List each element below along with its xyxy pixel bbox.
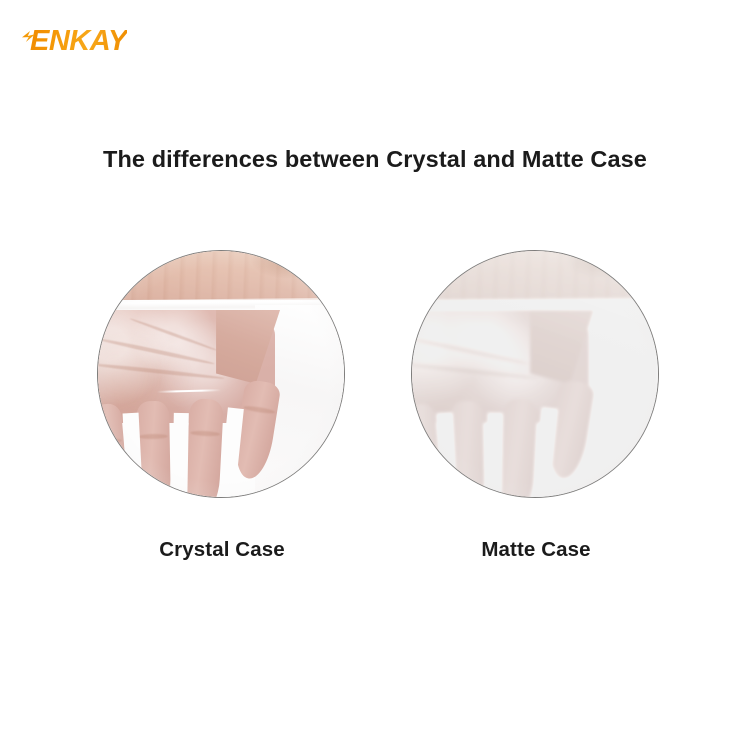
crystal-case-photo — [97, 250, 345, 498]
wrist-shadow — [250, 250, 322, 279]
finger-gap — [172, 413, 188, 498]
finger — [184, 398, 224, 498]
crystal-scene — [98, 251, 344, 497]
caption-crystal-case: Crystal Case — [97, 538, 347, 562]
finger — [498, 398, 538, 498]
matte-scene — [412, 251, 658, 497]
comparison-item-matte: Matte Case — [411, 250, 661, 498]
comparison-item-crystal: Crystal Case — [97, 250, 347, 498]
wrist-shadow — [564, 250, 636, 279]
matte-case-photo — [411, 250, 659, 498]
enkay-logo: ENKAY — [30, 27, 127, 56]
wrist-region — [97, 250, 344, 300]
wrist-region — [411, 250, 658, 300]
finger-gap — [486, 413, 502, 498]
caption-matte-case: Matte Case — [411, 538, 661, 562]
page-title: The differences between Crystal and Matt… — [0, 146, 750, 173]
